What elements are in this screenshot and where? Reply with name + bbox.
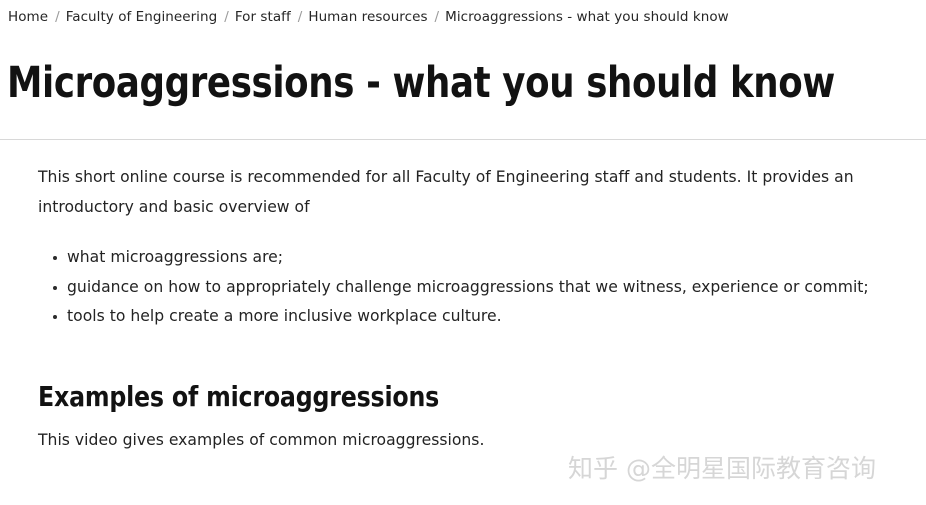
page-title: Microaggressions - what you should know bbox=[7, 57, 835, 109]
breadcrumb-item-faculty-of-engineering[interactable]: Faculty of Engineering bbox=[66, 9, 218, 25]
intro-paragraph: This short online course is recommended … bbox=[38, 163, 898, 222]
overview-list: what microaggressions are; guidance on h… bbox=[38, 243, 898, 332]
list-item: guidance on how to appropriately challen… bbox=[38, 273, 898, 303]
breadcrumb-item-home[interactable]: Home bbox=[8, 9, 48, 25]
breadcrumb: Home/Faculty of Engineering/For staff/Hu… bbox=[8, 9, 729, 26]
watermark: 知乎 @全明星国际教育咨询 bbox=[568, 452, 876, 486]
header-divider bbox=[0, 139, 926, 140]
main-content: This short online course is recommended … bbox=[38, 163, 898, 453]
breadcrumb-separator: / bbox=[428, 9, 446, 25]
breadcrumb-item-for-staff[interactable]: For staff bbox=[235, 9, 291, 25]
breadcrumb-separator: / bbox=[48, 9, 66, 25]
list-item: what microaggressions are; bbox=[38, 243, 898, 273]
breadcrumb-separator: / bbox=[291, 9, 309, 25]
breadcrumb-separator: / bbox=[217, 9, 235, 25]
section-caption: This video gives examples of common micr… bbox=[38, 427, 898, 453]
breadcrumb-item-current: Microaggressions - what you should know bbox=[445, 9, 729, 25]
breadcrumb-item-human-resources[interactable]: Human resources bbox=[308, 9, 427, 25]
list-item: tools to help create a more inclusive wo… bbox=[38, 302, 898, 332]
section-title-examples: Examples of microaggressions bbox=[38, 379, 846, 415]
